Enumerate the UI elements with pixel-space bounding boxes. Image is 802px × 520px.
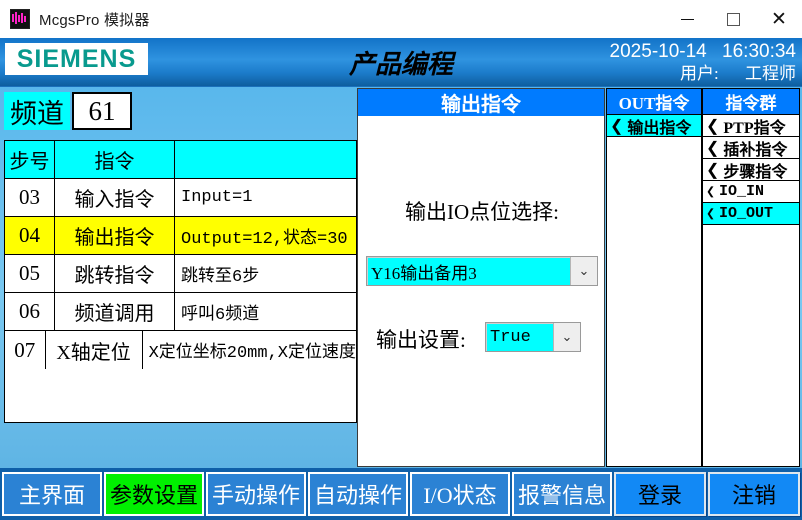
out-command-panel: OUT指令 ❮ 输出指令	[606, 88, 702, 467]
nav-button-logout[interactable]: 注销	[708, 472, 800, 516]
time-text: 16:30:34	[722, 41, 796, 62]
nav-button-alarm[interactable]: 报警信息	[512, 472, 612, 516]
chevron-down-icon[interactable]: ⌄	[553, 323, 580, 351]
mcgspro-simulator-window: McgsPro 模拟器 ✕ 产品编程 SIEMENS 2025-10-14 16…	[0, 0, 802, 520]
group-item-label: IO_IN	[719, 183, 764, 200]
table-row[interactable]: 03 输入指令 Input=1	[5, 179, 356, 217]
io-point-select[interactable]: Y16输出备用3 ⌄	[366, 256, 598, 286]
output-setting-value: True	[486, 328, 553, 347]
user-display: 用户: 工程师	[610, 63, 796, 84]
channel-value-field[interactable]: 61	[72, 92, 132, 130]
column-header-detail	[175, 141, 356, 178]
cell-detail: X定位坐标20mm,X定位速度	[143, 331, 356, 369]
group-item-step[interactable]: ❮ 步骤指令	[703, 159, 799, 181]
group-item-io-out[interactable]: ❮ IO_OUT	[703, 203, 799, 225]
command-group-panel: 指令群 ❮ PTP指令 ❮ 插补指令 ❮ 步骤指令 ❮ IO_IN ❮ IO_O…	[702, 88, 800, 467]
cell-detail: 跳转至6步	[175, 255, 356, 292]
channel-selector[interactable]: 频道 61	[4, 92, 132, 130]
cell-command: X轴定位	[46, 331, 142, 369]
chevron-down-icon[interactable]: ⌄	[570, 257, 597, 285]
column-header-step: 步号	[5, 141, 54, 178]
group-panel-title: 指令群	[703, 89, 799, 115]
chevron-left-icon: ❮	[706, 116, 719, 136]
app-icon	[10, 9, 30, 29]
chevron-left-icon: ❮	[706, 204, 715, 223]
chevron-left-icon: ❮	[610, 116, 623, 136]
group-item-io-in[interactable]: ❮ IO_IN	[703, 181, 799, 203]
bottom-navigation-bar: 主界面 参数设置 手动操作 自动操作 I/O状态 报警信息 登录 注销	[0, 468, 802, 520]
window-controls: ✕	[664, 0, 802, 38]
group-item-ptp[interactable]: ❮ PTP指令	[703, 115, 799, 137]
cell-step: 03	[5, 179, 54, 216]
io-point-label: 输出IO点位选择:	[358, 196, 605, 226]
siemens-logo: SIEMENS	[5, 43, 148, 75]
chevron-left-icon: ❮	[706, 160, 719, 180]
app-header: 产品编程 SIEMENS 2025-10-14 16:30:34 用户: 工程师	[0, 38, 802, 87]
cell-detail: Input=1	[175, 179, 356, 216]
channel-label: 频道	[4, 92, 70, 130]
cell-detail: 呼叫6频道	[175, 293, 356, 330]
cell-step: 04	[5, 217, 54, 254]
dialog-title: 输出指令	[358, 89, 604, 116]
header-status: 2025-10-14 16:30:34 用户: 工程师	[610, 40, 796, 84]
cell-detail: Output=12,状态=30	[175, 217, 356, 254]
cell-command: 输入指令	[55, 179, 174, 216]
table-row[interactable]: 06 频道调用 呼叫6频道	[5, 293, 356, 331]
table-row[interactable]: 05 跳转指令 跳转至6步	[5, 255, 356, 293]
step-table[interactable]: 步号 指令 03 输入指令 Input=1 04 输出指令 Output=12,…	[4, 140, 357, 423]
out-panel-item-label: 输出指令	[627, 114, 691, 138]
output-command-dialog: 输出指令 输出IO点位选择: Y16输出备用3 ⌄ 输出设置: True ⌄ 输…	[357, 88, 605, 467]
chevron-left-icon: ❮	[706, 182, 715, 201]
out-panel-title: OUT指令	[607, 89, 701, 115]
cell-step: 06	[5, 293, 54, 330]
date-text: 2025-10-14	[610, 41, 707, 62]
close-icon[interactable]: ✕	[756, 0, 802, 38]
window-titlebar: McgsPro 模拟器 ✕	[0, 0, 802, 39]
chevron-left-icon: ❮	[706, 138, 719, 158]
column-header-command: 指令	[55, 141, 174, 178]
cell-command: 频道调用	[55, 293, 174, 330]
cell-step: 07	[5, 331, 45, 369]
group-item-label: IO_OUT	[719, 205, 773, 222]
user-value: 工程师	[745, 64, 796, 83]
io-point-value: Y16输出备用3	[367, 259, 570, 284]
nav-button-login[interactable]: 登录	[614, 472, 706, 516]
window-title: McgsPro 模拟器	[39, 9, 150, 30]
maximize-button[interactable]	[710, 0, 756, 38]
nav-button-io-status[interactable]: I/O状态	[410, 472, 510, 516]
cell-command: 输出指令	[55, 217, 174, 254]
group-item-label: PTP指令	[723, 114, 785, 138]
dialog-body: 输出IO点位选择: Y16输出备用3 ⌄ 输出设置: True ⌄ 输出确认	[358, 116, 604, 467]
group-item-label: 插补指令	[723, 136, 787, 160]
nav-button-auto[interactable]: 自动操作	[308, 472, 408, 516]
nav-button-manual[interactable]: 手动操作	[206, 472, 306, 516]
table-header-row: 步号 指令	[5, 141, 356, 179]
out-panel-item-output[interactable]: ❮ 输出指令	[607, 115, 701, 137]
user-label: 用户:	[680, 64, 719, 83]
output-setting-select[interactable]: True ⌄	[485, 322, 581, 352]
siemens-logo-text: SIEMENS	[17, 47, 137, 72]
cell-command: 跳转指令	[55, 255, 174, 292]
table-row[interactable]: 07 X轴定位 X定位坐标20mm,X定位速度	[5, 331, 356, 369]
output-setting-label: 输出设置:	[376, 324, 466, 354]
cell-step: 05	[5, 255, 54, 292]
group-item-label: 步骤指令	[723, 158, 787, 182]
minimize-button[interactable]	[664, 0, 710, 38]
nav-button-parameter-settings[interactable]: 参数设置	[104, 472, 204, 516]
datetime-display: 2025-10-14 16:30:34	[610, 40, 796, 63]
group-item-interpolation[interactable]: ❮ 插补指令	[703, 137, 799, 159]
nav-button-main[interactable]: 主界面	[2, 472, 102, 516]
table-row[interactable]: 04 输出指令 Output=12,状态=30	[5, 217, 356, 255]
